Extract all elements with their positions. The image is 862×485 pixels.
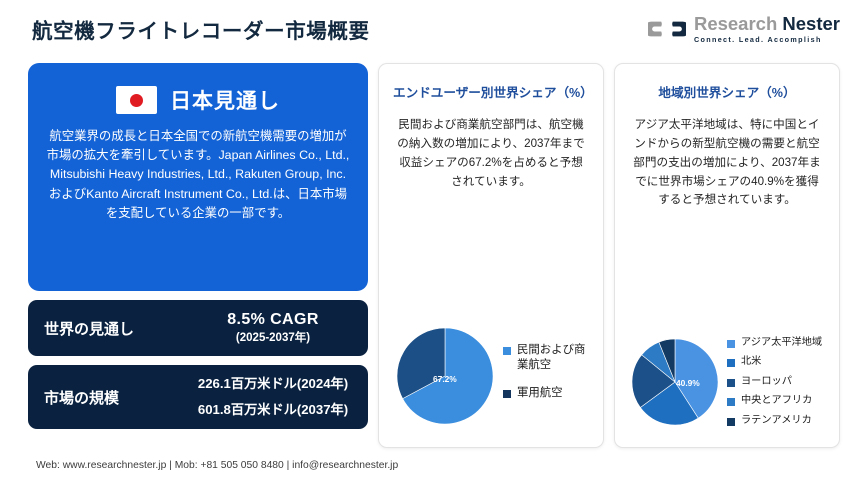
japan-outlook-panel: 日本見通し 航空業界の成長と日本全国での新航空機需要の増加が市場の拡大を牽引して… — [28, 63, 368, 291]
infographic-page: 航空機フライトレコーダー市場概要 Research Nester Connect… — [0, 0, 862, 485]
legend-item: 北米 — [727, 355, 825, 368]
legend-swatch-icon — [727, 398, 735, 406]
logo-wordmark: Research Nester Connect. Lead. Accomplis… — [694, 15, 840, 44]
legend-swatch-icon — [727, 359, 735, 367]
legend-item: 軍用航空 — [503, 386, 589, 401]
japan-flag-icon — [116, 86, 157, 114]
logo-word-nester: Nester — [777, 13, 840, 34]
pie-chart-regional: 40.9% — [629, 336, 721, 433]
logo-word-research: Research — [694, 13, 777, 34]
legend-swatch-icon — [503, 390, 511, 398]
legend-item: ヨーロッパ — [727, 375, 825, 388]
japan-panel-body: 航空業界の成長と日本全国での新航空機需要の増加が市場の拡大を牽引しています。Ja… — [46, 127, 350, 223]
card-desc-end-user-share: 民間および商業航空部門は、航空機の納入数の増加により、2037年まで収益シェアの… — [393, 116, 589, 191]
card-title-end-user-share: エンドユーザー別世界シェア（%） — [393, 84, 589, 102]
legend-swatch-icon — [727, 340, 735, 348]
stat-label-market-size: 市場の規模 — [44, 387, 194, 408]
company-logo: Research Nester Connect. Lead. Accomplis… — [648, 15, 840, 44]
research-nester-link-mark-icon — [648, 16, 686, 42]
legend-item: ラテンアメリカ — [727, 414, 825, 427]
legend-swatch-icon — [727, 379, 735, 387]
legend-swatch-icon — [503, 347, 511, 355]
logo-tagline: Connect. Lead. Accomplish — [694, 36, 840, 43]
left-column: 日本見通し 航空業界の成長と日本全国での新航空機需要の増加が市場の拡大を牽引して… — [28, 63, 368, 448]
stat-row-market-size: 市場の規模 226.1百万米ドル(2024年) 601.8百万米ドル(2037年… — [28, 365, 368, 429]
legend-item: アジア太平洋地域 — [727, 336, 825, 349]
legend-end-user: 民間および商業航空 軍用航空 — [503, 343, 589, 414]
legend-label-apac: アジア太平洋地域 — [741, 336, 822, 349]
legend-swatch-icon — [727, 418, 735, 426]
stat-market-size-2024: 226.1百万米ドル(2024年) — [194, 375, 352, 393]
pie-svg-end-user — [393, 324, 497, 428]
legend-label-central-africa: 中央とアフリカ — [741, 394, 812, 407]
legend-label-latin-america: ラテンアメリカ — [741, 414, 812, 427]
page-title: 航空機フライトレコーダー市場概要 — [32, 14, 370, 44]
card-title-regional-share: 地域別世界シェア（%） — [629, 84, 825, 102]
pie-chart-end-user: 67.2% — [393, 324, 497, 433]
stat-values-market-size: 226.1百万米ドル(2024年) 601.8百万米ドル(2037年) — [194, 375, 352, 419]
content-columns: 日本見通し 航空業界の成長と日本全国での新航空機需要の増加が市場の拡大を牽引して… — [0, 58, 862, 448]
legend-item: 中央とアフリカ — [727, 394, 825, 407]
stat-cagr-value: 8.5% CAGR — [194, 309, 352, 331]
page-header: 航空機フライトレコーダー市場概要 Research Nester Connect… — [0, 0, 862, 58]
japan-flag-sun — [130, 94, 143, 107]
card-desc-regional-share: アジア太平洋地域は、特に中国とインドからの新型航空機の需要と航空部門の支出の増加… — [629, 116, 825, 210]
pie-svg-regional — [629, 336, 721, 428]
chart-regional-share: 40.9% アジア太平洋地域 北米 ヨーロッパ — [629, 336, 825, 439]
legend-label-europe: ヨーロッパ — [741, 375, 792, 388]
legend-label-north-america: 北米 — [741, 355, 761, 368]
legend-item: 民間および商業航空 — [503, 343, 589, 373]
stat-cagr-period: (2025-2037年) — [194, 331, 352, 347]
card-end-user-share: エンドユーザー別世界シェア（%） 民間および商業航空部門は、航空機の納入数の増加… — [378, 63, 604, 448]
stat-row-global-outlook: 世界の見通し 8.5% CAGR (2025-2037年) — [28, 300, 368, 356]
legend-label-military: 軍用航空 — [517, 386, 563, 401]
stat-market-size-2037: 601.8百万米ドル(2037年) — [194, 401, 352, 419]
japan-panel-header: 日本見通し — [116, 85, 280, 115]
stat-values-global-outlook: 8.5% CAGR (2025-2037年) — [194, 309, 352, 346]
footer-contact: Web: www.researchnester.jp | Mob: +81 50… — [0, 460, 862, 471]
legend-regional: アジア太平洋地域 北米 ヨーロッパ 中央とアフリカ — [727, 336, 825, 433]
chart-end-user-share: 67.2% 民間および商業航空 軍用航空 — [393, 324, 589, 439]
stat-label-global-outlook: 世界の見通し — [44, 318, 194, 339]
logo-name: Research Nester — [694, 15, 840, 34]
card-regional-share: 地域別世界シェア（%） アジア太平洋地域は、特に中国とインドからの新型航空機の需… — [614, 63, 840, 448]
japan-panel-title: 日本見通し — [170, 85, 280, 115]
legend-label-commercial: 民間および商業航空 — [517, 343, 589, 373]
